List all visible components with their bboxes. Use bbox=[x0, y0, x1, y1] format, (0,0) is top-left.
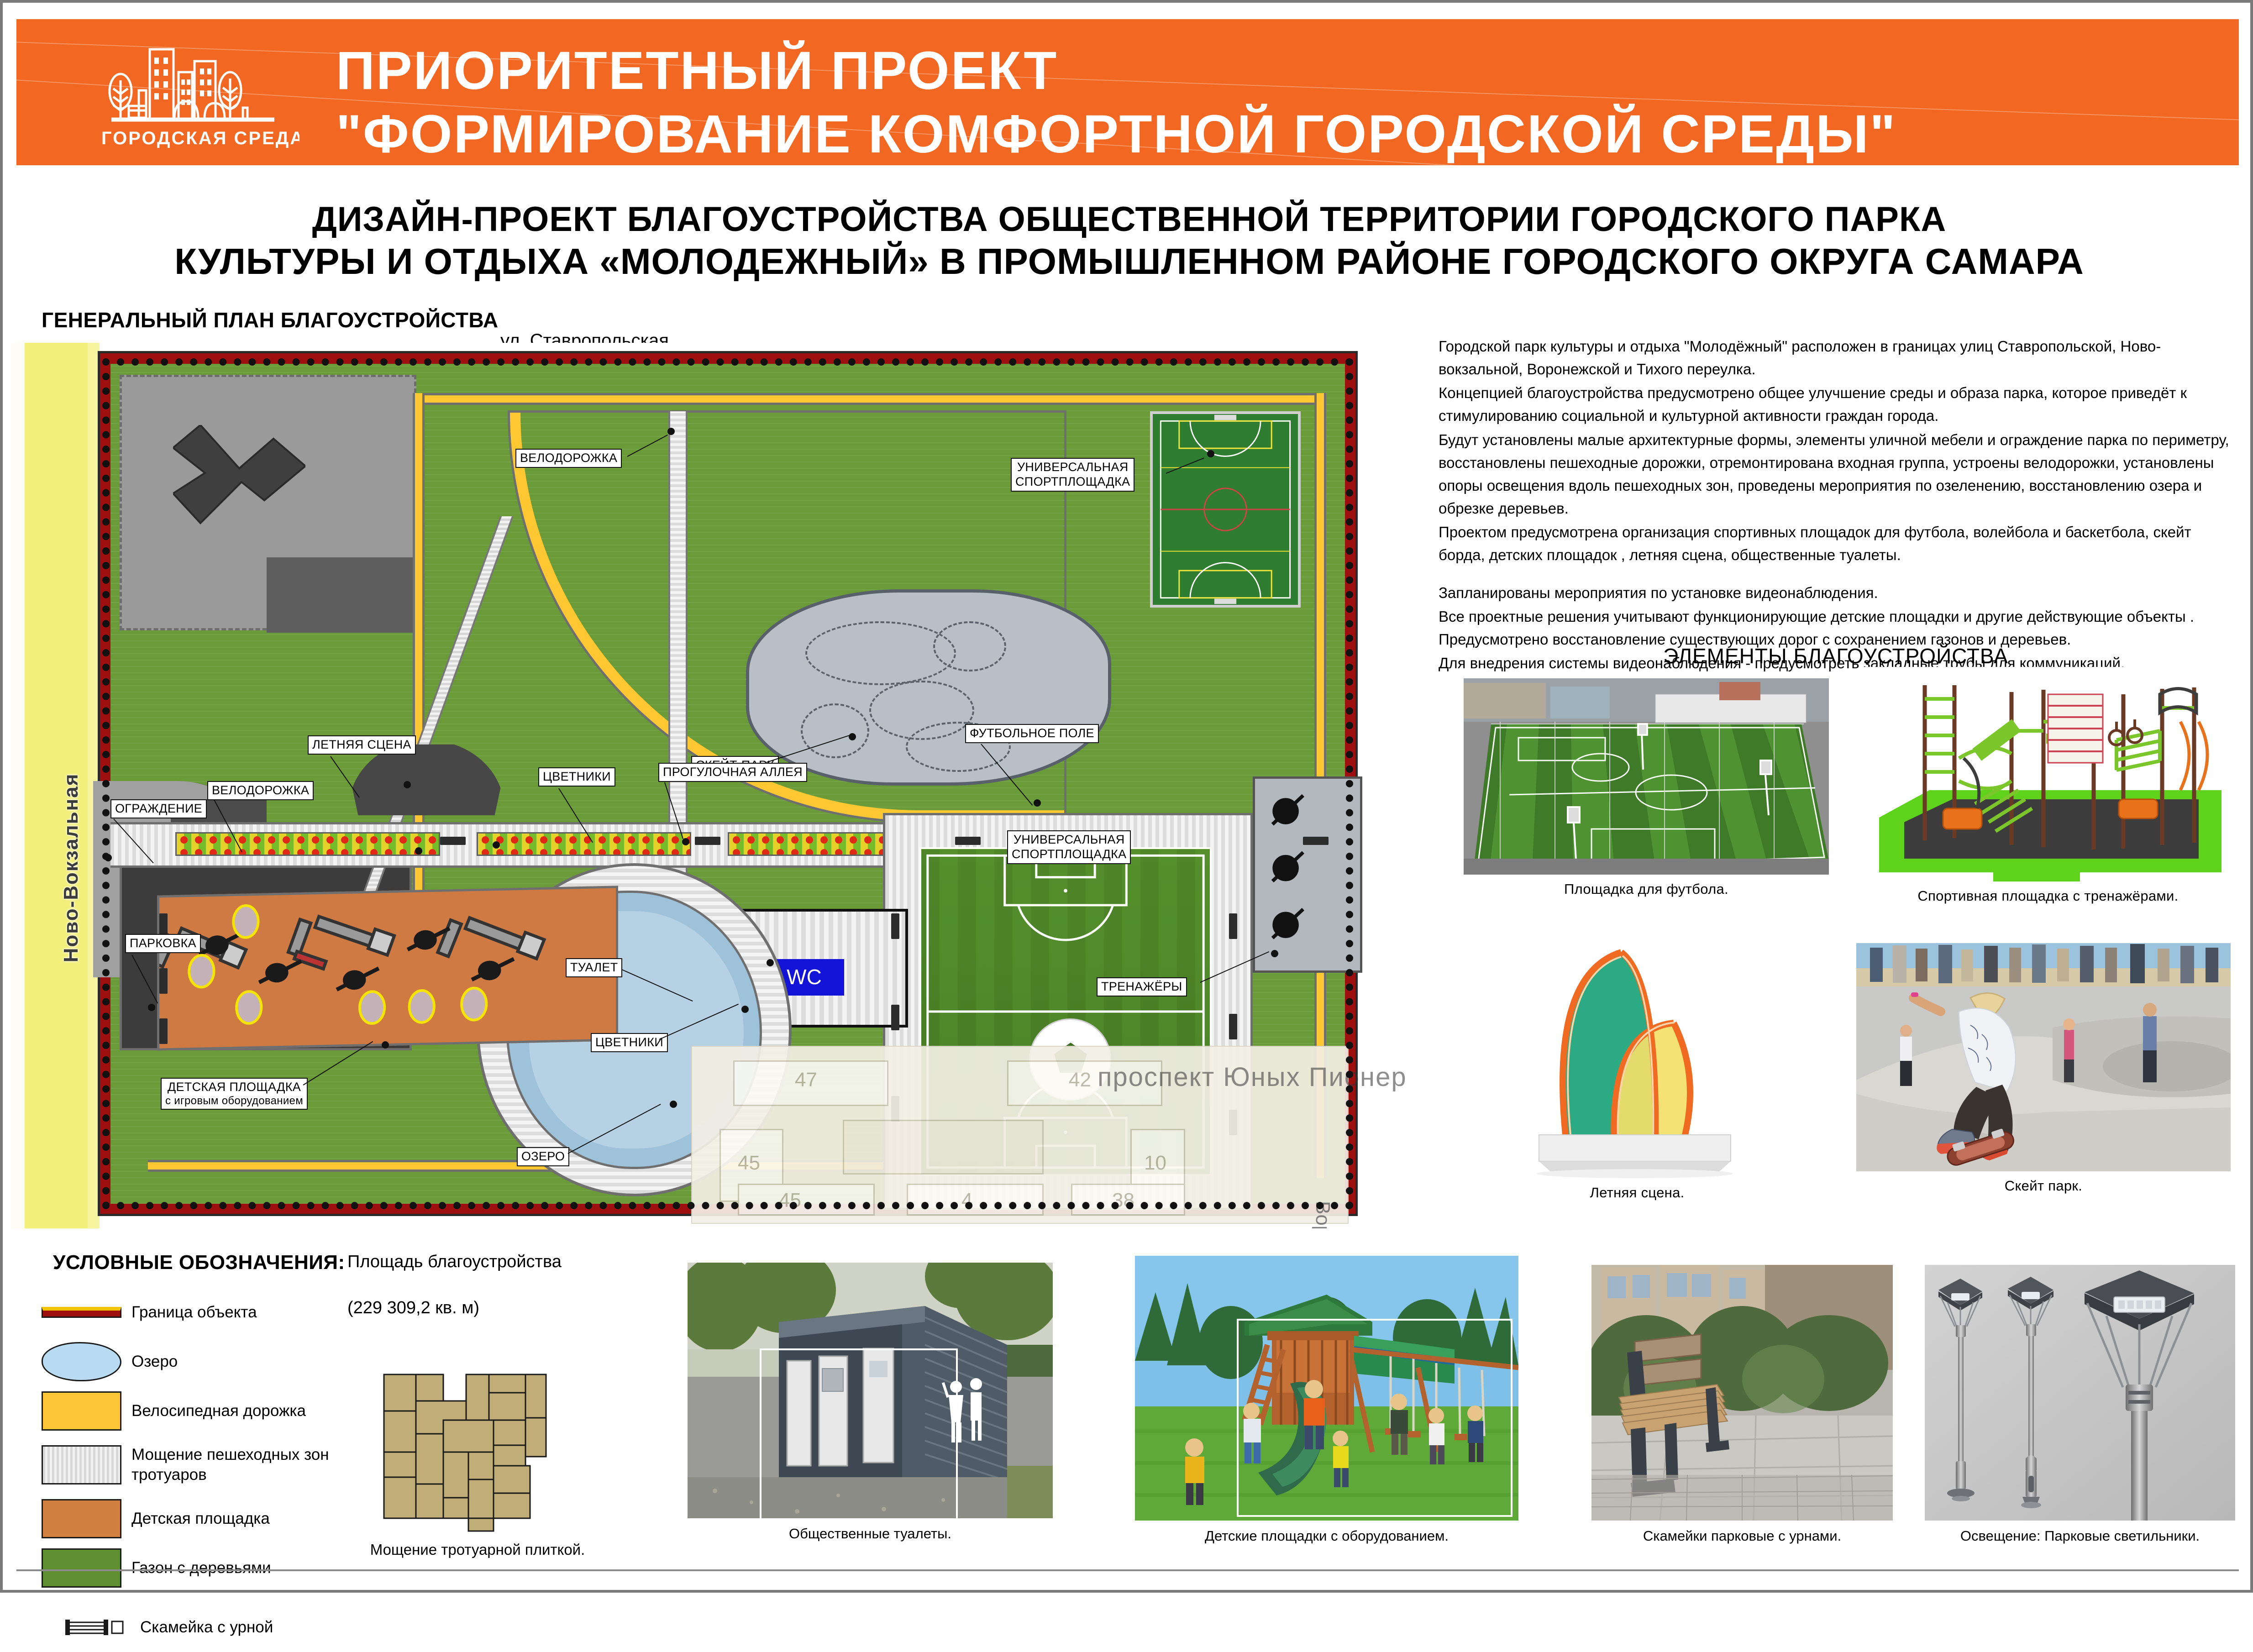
bench-icon bbox=[159, 968, 168, 994]
legend-item-kids: Детская площадка bbox=[42, 1494, 389, 1543]
photo-caption-summer-stage: Летняя сцена. bbox=[1477, 1185, 1797, 1201]
bike-path-top bbox=[413, 393, 1326, 405]
callout-universal-sport: УНИВЕРСАЛЬНАЯ СПОРТПЛОЩАДКА bbox=[1011, 458, 1134, 492]
desc-p2: Концепцией благоустройства предусмотрено… bbox=[1439, 382, 2233, 427]
legend-label-bike: Велосипедная дорожка bbox=[131, 1401, 306, 1421]
photo-caption-lighting: Освещение: Парковые светильники. bbox=[1925, 1528, 2235, 1544]
legend-swatch-lake bbox=[42, 1342, 121, 1381]
bench-icon bbox=[1229, 913, 1237, 939]
page-title: ДИЗАЙН-ПРОЕКТ БЛАГОУСТРОЙСТВА ОБЩЕСТВЕНН… bbox=[3, 199, 2253, 283]
legend-swatch-lawn bbox=[42, 1548, 121, 1588]
legend-swatch-bike bbox=[42, 1391, 121, 1431]
photo-caption-football: Площадка для футбола. bbox=[1464, 881, 1829, 897]
legend-label-lake: Озеро bbox=[131, 1352, 178, 1372]
desc-p4: Проектом предусмотрена организация спорт… bbox=[1439, 521, 2233, 566]
photo-lighting: Освещение: Парковые светильники. bbox=[1925, 1265, 2235, 1544]
paved-step-zone bbox=[267, 557, 417, 633]
header-title-line2: "ФОРМИРОВАНИЕ КОМФОРТНОЙ ГОРОДСКОЙ СРЕДЫ… bbox=[336, 103, 1896, 165]
poster-header: ГОРОДСКАЯ СРЕДА ПРИОРИТЕТНЫЙ ПРОЕКТ "ФОР… bbox=[16, 19, 2239, 165]
photo-caption-playground: Детские площадки с оборудованием. bbox=[1135, 1528, 1518, 1544]
universal-sport-field bbox=[1150, 411, 1301, 608]
bench-icon bbox=[159, 1018, 168, 1044]
callout-line1: УНИВЕРСАЛЬНАЯ bbox=[1014, 833, 1125, 846]
callout-d-line1: ДЕТСКАЯ ПЛОЩАДКА bbox=[168, 1080, 301, 1094]
photo-caption-workout: Спортивная площадка с тренажёрами. bbox=[1861, 888, 2235, 904]
callout-dot bbox=[404, 781, 411, 788]
flowerbed-2 bbox=[477, 832, 691, 856]
entrance-building bbox=[173, 425, 305, 539]
legend-swatch-kids bbox=[42, 1499, 121, 1538]
callout-futbolnoe-pole: ФУТБОЛЬНОЕ ПОЛЕ bbox=[965, 724, 1099, 743]
legend-item-lake: Озеро bbox=[42, 1337, 389, 1386]
photo-public-toilets: Общественные туалеты. bbox=[688, 1263, 1053, 1542]
tile-sample-caption: Мощение тротуарной плиткой. bbox=[350, 1541, 605, 1558]
road-white-strip bbox=[11, 343, 26, 1228]
legend-item-lawn: Газон с деревьями bbox=[42, 1543, 389, 1593]
callout-velodorozhka-left: ВЕЛОДОРОЖКА bbox=[207, 781, 314, 800]
photo-workout: Спортивная площадка с тренажёрами. bbox=[1861, 667, 2235, 904]
desc-p1: Городской парк культуры и отдыха "Молодё… bbox=[1439, 335, 2233, 381]
bench-icon bbox=[440, 837, 466, 845]
playground-zone bbox=[157, 886, 618, 1050]
page-title-line2: КУЛЬТУРЫ И ОТДЫХА «МОЛОДЕЖНЫЙ» В ПРОМЫШЛ… bbox=[3, 240, 2253, 283]
poster-page: ГОРОДСКАЯ СРЕДА ПРИОРИТЕТНЫЙ ПРОЕКТ "ФОР… bbox=[0, 0, 2253, 1593]
skate-bowl-2 bbox=[933, 621, 1006, 671]
callout-line2: СПОРТПЛОЩАДКА bbox=[1012, 847, 1126, 861]
callout-u-line2: СПОРТПЛОЩАДКА bbox=[1015, 475, 1130, 488]
desc-p3: Будут установлены малые архитектурные фо… bbox=[1439, 429, 2233, 520]
bench-icon bbox=[695, 837, 720, 845]
photo-caption-skatepark: Скейт парк. bbox=[1856, 1178, 2231, 1194]
legend-list: Граница объекта Озеро Велосипедная дорож… bbox=[42, 1288, 389, 1652]
svg-text:ГОРОДСКАЯ СРЕДА: ГОРОДСКАЯ СРЕДА bbox=[101, 128, 299, 148]
callout-dot bbox=[382, 1041, 389, 1049]
photo-skatepark: Скейт парк. bbox=[1856, 943, 2231, 1194]
outdoor-gym-zone bbox=[1253, 776, 1362, 973]
callout-letnyaya-scena: ЛЕТНЯЯ СЦЕНА bbox=[308, 735, 416, 755]
bike-path-left bbox=[413, 393, 425, 959]
callout-ozero: ОЗЕРО bbox=[517, 1147, 569, 1166]
street-label-prospekt: проспект Юных Пионер bbox=[1098, 1062, 1406, 1092]
desc-spacer bbox=[1439, 568, 2233, 582]
bench-icon bbox=[955, 837, 981, 845]
gorodskaya-sreda-logo: ГОРОДСКАЯ СРЕДА bbox=[85, 41, 299, 151]
legend-label-kids: Детская площадка bbox=[131, 1509, 270, 1529]
callout-parkovka: ПАРКОВКА bbox=[125, 934, 201, 953]
callout-universalnaya-sportploshchadka: УНИВЕРСАЛЬНАЯ СПОРТПЛОЩАДКА bbox=[1007, 830, 1131, 864]
street-label-voronezhskaya: Воронежская bbox=[1311, 1201, 1334, 1228]
bottom-divider bbox=[16, 1569, 2239, 1571]
photo-playground: Детские площадки с оборудованием. bbox=[1135, 1256, 1518, 1544]
legend-item-bench: Скамейка с урной bbox=[42, 1603, 389, 1652]
legend-swatch-boundary bbox=[42, 1307, 121, 1318]
callout-dot bbox=[105, 854, 112, 861]
photo-bench: Скамейки парковые с урнами. bbox=[1591, 1265, 1893, 1544]
callout-dot bbox=[670, 1101, 677, 1108]
legend-swatch-pave bbox=[42, 1445, 121, 1484]
bench-icon bbox=[891, 1005, 899, 1030]
callout-dot bbox=[767, 959, 774, 966]
callout-dot bbox=[741, 1006, 749, 1013]
legend-label-boundary: Граница объекта bbox=[131, 1302, 257, 1322]
skate-bowl-1 bbox=[805, 621, 956, 685]
legend-label-bench: Скамейка с урной bbox=[140, 1617, 273, 1637]
general-plan-map[interactable]: Ново-Вокзальная bbox=[11, 343, 1406, 1228]
elements-heading: ЭЛЕМЕНТЫ БЛАГОУСТРОЙСТВА bbox=[1439, 644, 2233, 668]
street-label-novovokzalnaya: Ново-Вокзальная bbox=[60, 772, 83, 964]
callout-d-line2: с игровым оборудованием bbox=[165, 1095, 303, 1107]
callout-dot bbox=[667, 428, 675, 435]
bench-icon bbox=[1303, 837, 1329, 845]
callout-velodorozhka-top: ВЕЛОДОРОЖКА bbox=[515, 449, 622, 468]
bench-with-bin-icon bbox=[64, 1617, 124, 1638]
callout-u-line1: УНИВЕРСАЛЬНАЯ bbox=[1017, 460, 1129, 474]
area-heading: Площадь благоустройства bbox=[347, 1249, 562, 1275]
callout-progulochnaya-alleya: ПРОГУЛОЧНАЯ АЛЛЕЯ bbox=[658, 763, 807, 782]
paving-tile-sample bbox=[382, 1372, 571, 1532]
bench-icon bbox=[1229, 1014, 1237, 1039]
callout-dot bbox=[1207, 450, 1214, 457]
legend-item-pave: Мощение пешеходных зон тротуаров bbox=[42, 1436, 389, 1494]
flowerbed-1 bbox=[175, 832, 440, 856]
area-value: (229 309,2 кв. м) bbox=[347, 1298, 479, 1318]
callout-dot bbox=[1034, 799, 1041, 807]
project-description: Городской парк культуры и отдыха "Молодё… bbox=[1439, 335, 2233, 676]
callout-dot bbox=[415, 847, 422, 855]
callout-dot bbox=[493, 841, 500, 849]
callout-dot bbox=[849, 733, 856, 740]
photo-summer-stage: Летняя сцена. bbox=[1477, 929, 1797, 1201]
callout-dot bbox=[1271, 950, 1278, 957]
callout-cvetniki-left: ЦВЕТНИКИ bbox=[538, 767, 615, 787]
callout-dot bbox=[682, 838, 689, 845]
callout-dot bbox=[148, 1004, 155, 1011]
page-title-line1: ДИЗАЙН-ПРОЕКТ БЛАГОУСТРОЙСТВА ОБЩЕСТВЕНН… bbox=[3, 199, 2253, 240]
genplan-heading: ГЕНЕРАЛЬНЫЙ ПЛАН БЛАГОУСТРОЙСТВА bbox=[42, 308, 499, 332]
header-title-line1: ПРИОРИТЕТНЫЙ ПРОЕКТ bbox=[336, 39, 1896, 103]
callout-tualet: ТУАЛЕТ bbox=[566, 958, 622, 977]
callout-ograzhdenie: ОГРАЖДЕНИЕ bbox=[110, 799, 207, 818]
photo-football: Площадка для футбола. bbox=[1464, 678, 1829, 897]
legend-heading: УСЛОВНЫЕ ОБОЗНАЧЕНИЯ: bbox=[53, 1251, 345, 1274]
bench-icon bbox=[891, 913, 899, 939]
photo-caption-bench: Скамейки парковые с урнами. bbox=[1591, 1528, 1893, 1544]
legend-item-bike: Велосипедная дорожка bbox=[42, 1386, 389, 1436]
header-title-block: ПРИОРИТЕТНЫЙ ПРОЕКТ "ФОРМИРОВАНИЕ КОМФОР… bbox=[336, 39, 1896, 165]
photo-caption-toilets: Общественные туалеты. bbox=[688, 1526, 1053, 1542]
callout-trenazhery: ТРЕНАЖЁРЫ bbox=[1097, 977, 1187, 996]
legend-item-boundary: Граница объекта bbox=[42, 1288, 389, 1337]
callout-cvetniki-right: ЦВЕТНИКИ bbox=[591, 1033, 668, 1052]
desc-p5: Запланированы мероприятия по установке в… bbox=[1439, 582, 2233, 604]
skate-bowl-4 bbox=[801, 703, 869, 758]
legend-label-lawn: Газон с деревьями bbox=[131, 1558, 271, 1578]
callout-detskaya-ploshchadka: ДЕТСКАЯ ПЛОЩАДКА с игровым оборудованием bbox=[161, 1078, 308, 1110]
legend-label-pave: Мощение пешеходных зон тротуаров bbox=[131, 1445, 389, 1485]
